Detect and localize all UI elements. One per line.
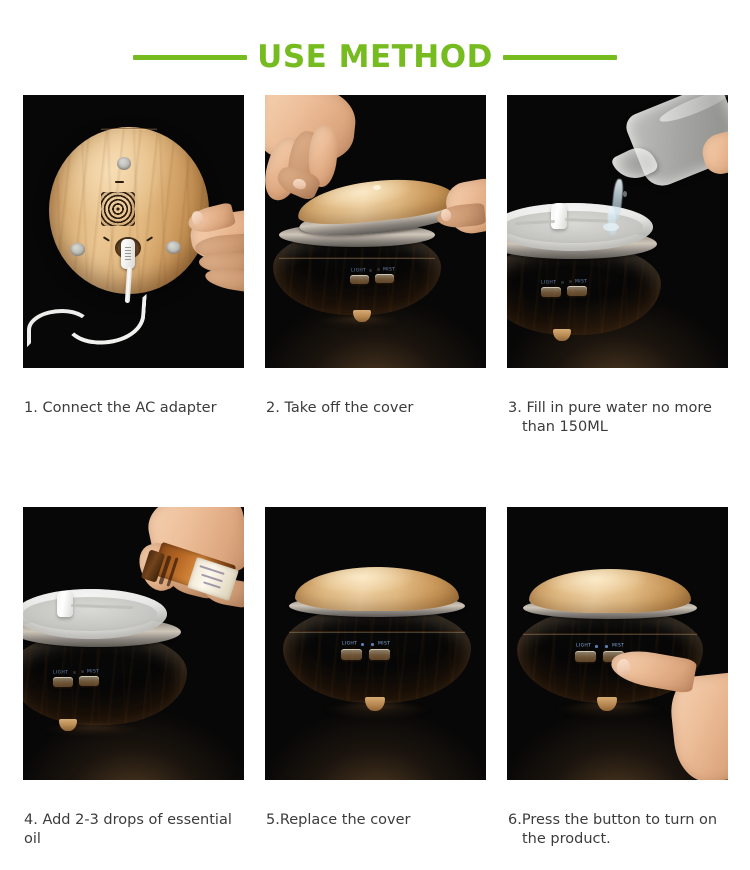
steps-grid: 1. Connect the AC adapter — [23, 95, 727, 870]
reservoir-inner — [23, 597, 157, 631]
step-1-photo — [23, 95, 244, 368]
step-3-photo: LIGHT MIST — [507, 95, 728, 368]
mist-button[interactable] — [79, 676, 99, 686]
mist-nozzle — [551, 203, 567, 229]
step-4-caption-line-1: 4. Add 2-3 drops of essential oil — [24, 812, 232, 848]
step-1: 1. Connect the AC adapter — [23, 95, 244, 457]
step-1-caption-line-1: 1. Connect the AC adapter — [24, 400, 217, 416]
step-5: LIGHT MIST 5.Replace the cover — [265, 507, 486, 869]
power-cable-curve-2 — [27, 309, 91, 347]
title-rule-right — [503, 55, 617, 60]
light-led-icon — [73, 671, 76, 674]
mist-button-label: MIST — [612, 643, 624, 648]
table-reflection — [295, 317, 423, 343]
step-5-photo: LIGHT MIST — [265, 507, 486, 780]
body-seam — [279, 257, 435, 258]
light-led-icon — [561, 281, 564, 284]
mist-button-label: MIST — [383, 267, 395, 272]
step-3-caption-line-1: 3. Fill in pure water no more — [508, 400, 712, 416]
reservoir-inner — [507, 211, 643, 243]
light-button[interactable] — [575, 651, 596, 662]
light-button-label: LIGHT — [351, 268, 366, 273]
step-2-photo: LIGHT MIST — [265, 95, 486, 368]
step-6-photo: LIGHT MIST — [507, 507, 728, 780]
vent-slot — [115, 181, 124, 183]
light-button-label: LIGHT — [53, 670, 68, 675]
mist-button[interactable] — [369, 649, 390, 660]
mist-button[interactable] — [375, 274, 394, 283]
mist-button[interactable] — [567, 286, 587, 296]
light-led-icon — [595, 645, 598, 648]
light-button[interactable] — [53, 677, 73, 687]
base-seam — [101, 128, 157, 129]
table-reflection — [299, 703, 455, 747]
mist-button-label: MIST — [575, 279, 587, 284]
step-3-caption-line-2: than 150ML — [508, 418, 728, 438]
step-4: LIGHT MIST 4. — [23, 507, 244, 869]
vent-grille-icon — [101, 192, 135, 226]
step-4-caption: 4. Add 2-3 drops of essential oil — [23, 780, 244, 850]
light-button-label: LIGHT — [576, 643, 591, 648]
light-button[interactable] — [341, 649, 362, 660]
light-button-label: LIGHT — [342, 641, 357, 646]
plug-grip-lines — [125, 247, 131, 260]
step-3-caption: 3. Fill in pure water no more than 150ML — [507, 368, 728, 457]
step-2-caption: 2. Take off the cover — [265, 368, 486, 418]
mist-led-icon — [81, 670, 84, 673]
mist-button-label: MIST — [378, 641, 390, 646]
table-reflection — [531, 703, 687, 743]
foot-pad — [166, 241, 181, 254]
step-6: LIGHT MIST 6.Press the button to turn on… — [507, 507, 728, 869]
mist-led-icon — [569, 280, 572, 283]
light-button[interactable] — [541, 287, 561, 297]
step-3: LIGHT MIST 3. Fill in pure water no more… — [507, 95, 728, 457]
light-button-label: LIGHT — [541, 280, 556, 285]
step-6-caption-line-1: 6.Press the button to turn on — [508, 812, 717, 828]
page-title: USE METHOD — [257, 42, 493, 73]
title-rule-left — [133, 55, 247, 60]
step-2-caption-line-1: 2. Take off the cover — [266, 400, 413, 416]
light-led-icon — [369, 269, 372, 272]
water-droplet — [623, 191, 627, 197]
light-button[interactable] — [350, 275, 369, 284]
step-6-caption: 6.Press the button to turn on the produc… — [507, 780, 728, 869]
step-5-caption: 5.Replace the cover — [265, 780, 486, 830]
light-led-icon — [361, 643, 364, 646]
foot-pad — [117, 157, 131, 170]
foot-pad — [70, 243, 85, 256]
step-4-photo: LIGHT MIST — [23, 507, 244, 780]
mist-button-label: MIST — [87, 669, 99, 674]
step-2: LIGHT MIST 2. Take off the cover — [265, 95, 486, 457]
page-header: USE METHOD — [0, 34, 750, 80]
step-5-caption-line-1: 5.Replace the cover — [266, 812, 411, 828]
mist-led-icon — [605, 645, 608, 648]
step-1-caption: 1. Connect the AC adapter — [23, 368, 244, 418]
step-6-caption-line-2: the product. — [508, 830, 728, 850]
water-splash — [603, 223, 619, 231]
body-seam — [289, 631, 465, 632]
mist-led-icon — [377, 268, 380, 271]
body-seam — [523, 633, 697, 634]
mist-led-icon — [371, 643, 374, 646]
